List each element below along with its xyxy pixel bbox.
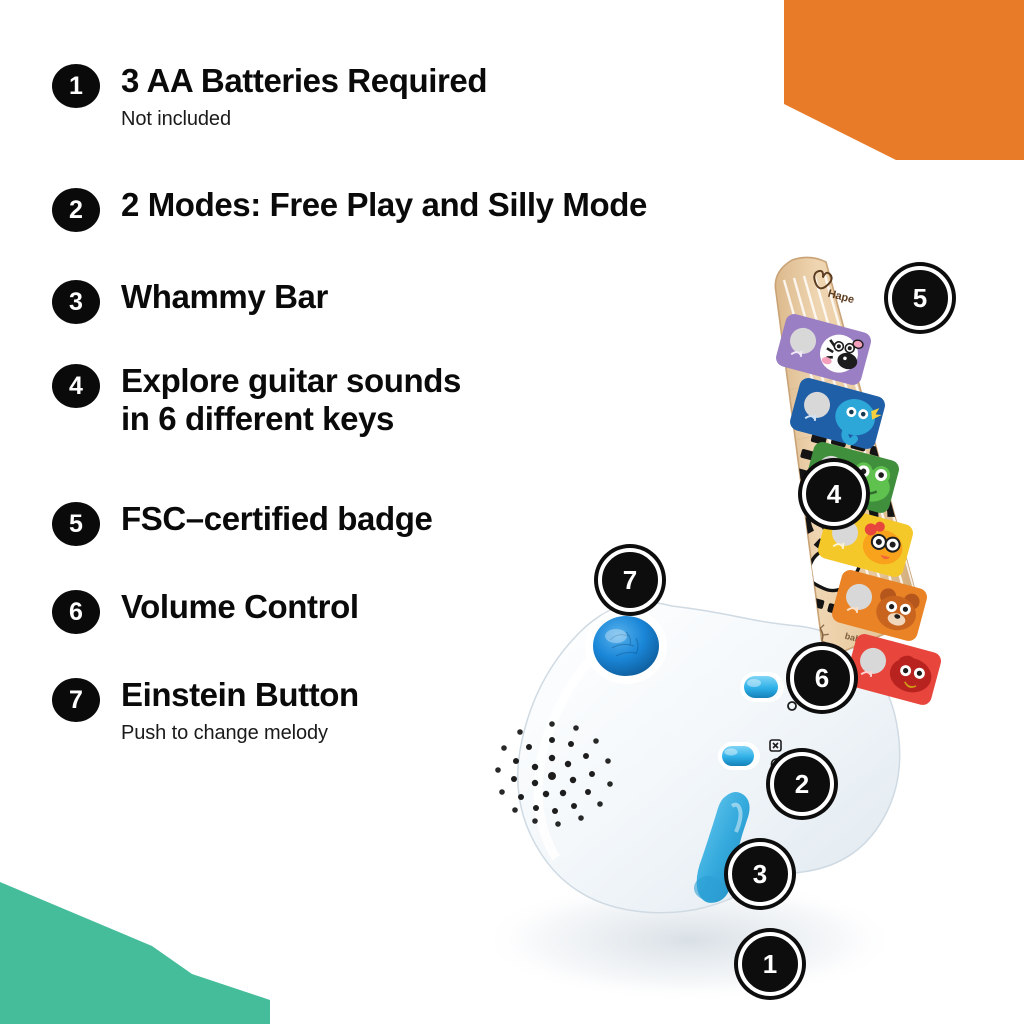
- feature-title: Einstein Button: [121, 676, 359, 714]
- feature-number-badge: 1: [52, 64, 100, 108]
- feature-item-4: 4 Explore guitar sounds in 6 different k…: [52, 362, 461, 439]
- feature-text-group: 2 Modes: Free Play and Silly Mode: [121, 186, 647, 224]
- callout-badge-6[interactable]: 6: [790, 646, 854, 710]
- feature-item-7: 7 Einstein Button Push to change melody: [52, 676, 359, 745]
- orange-corner-decoration: [784, 0, 1024, 160]
- feature-title: Volume Control: [121, 588, 359, 626]
- feature-text-group: Explore guitar sounds in 6 different key…: [121, 362, 461, 439]
- feature-number-badge: 5: [52, 502, 100, 546]
- feature-number-badge: 2: [52, 188, 100, 232]
- feature-text-group: FSC–certified badge: [121, 500, 432, 538]
- feature-title: 2 Modes: Free Play and Silly Mode: [121, 186, 647, 224]
- callout-badge-2[interactable]: 2: [770, 752, 834, 816]
- feature-item-1: 1 3 AA Batteries Required Not included: [52, 62, 487, 131]
- feature-subtitle: Not included: [121, 107, 487, 131]
- feature-item-6: 6 Volume Control: [52, 588, 359, 634]
- feature-number-badge: 3: [52, 280, 100, 324]
- feature-number-badge: 6: [52, 590, 100, 634]
- einstein-button[interactable]: [585, 608, 667, 684]
- feature-item-2: 2 2 Modes: Free Play and Silly Mode: [52, 186, 647, 232]
- feature-item-5: 5 FSC–certified badge: [52, 500, 432, 546]
- feature-title: FSC–certified badge: [121, 500, 432, 538]
- infographic-canvas: 1 3 AA Batteries Required Not included 2…: [0, 0, 1024, 1024]
- callout-badge-7[interactable]: 7: [598, 548, 662, 612]
- teal-corner-decoration: [0, 854, 270, 1024]
- feature-text-group: Whammy Bar: [121, 278, 328, 316]
- feature-number-badge: 4: [52, 364, 100, 408]
- feature-title: 3 AA Batteries Required: [121, 62, 487, 100]
- feature-text-group: Einstein Button Push to change melody: [121, 676, 359, 745]
- callout-badge-5[interactable]: 5: [888, 266, 952, 330]
- feature-subtitle: Push to change melody: [121, 721, 359, 745]
- callout-badge-1[interactable]: 1: [738, 932, 802, 996]
- callout-badge-4[interactable]: 4: [802, 462, 866, 526]
- feature-title: Whammy Bar: [121, 278, 328, 316]
- product-photo-guitar: baby einstein: [440, 240, 1024, 1024]
- feature-text-group: 3 AA Batteries Required Not included: [121, 62, 487, 131]
- feature-item-3: 3 Whammy Bar: [52, 278, 328, 324]
- feature-title: Explore guitar sounds in 6 different key…: [121, 362, 461, 439]
- feature-number-badge: 7: [52, 678, 100, 722]
- callout-badge-3[interactable]: 3: [728, 842, 792, 906]
- feature-text-group: Volume Control: [121, 588, 359, 626]
